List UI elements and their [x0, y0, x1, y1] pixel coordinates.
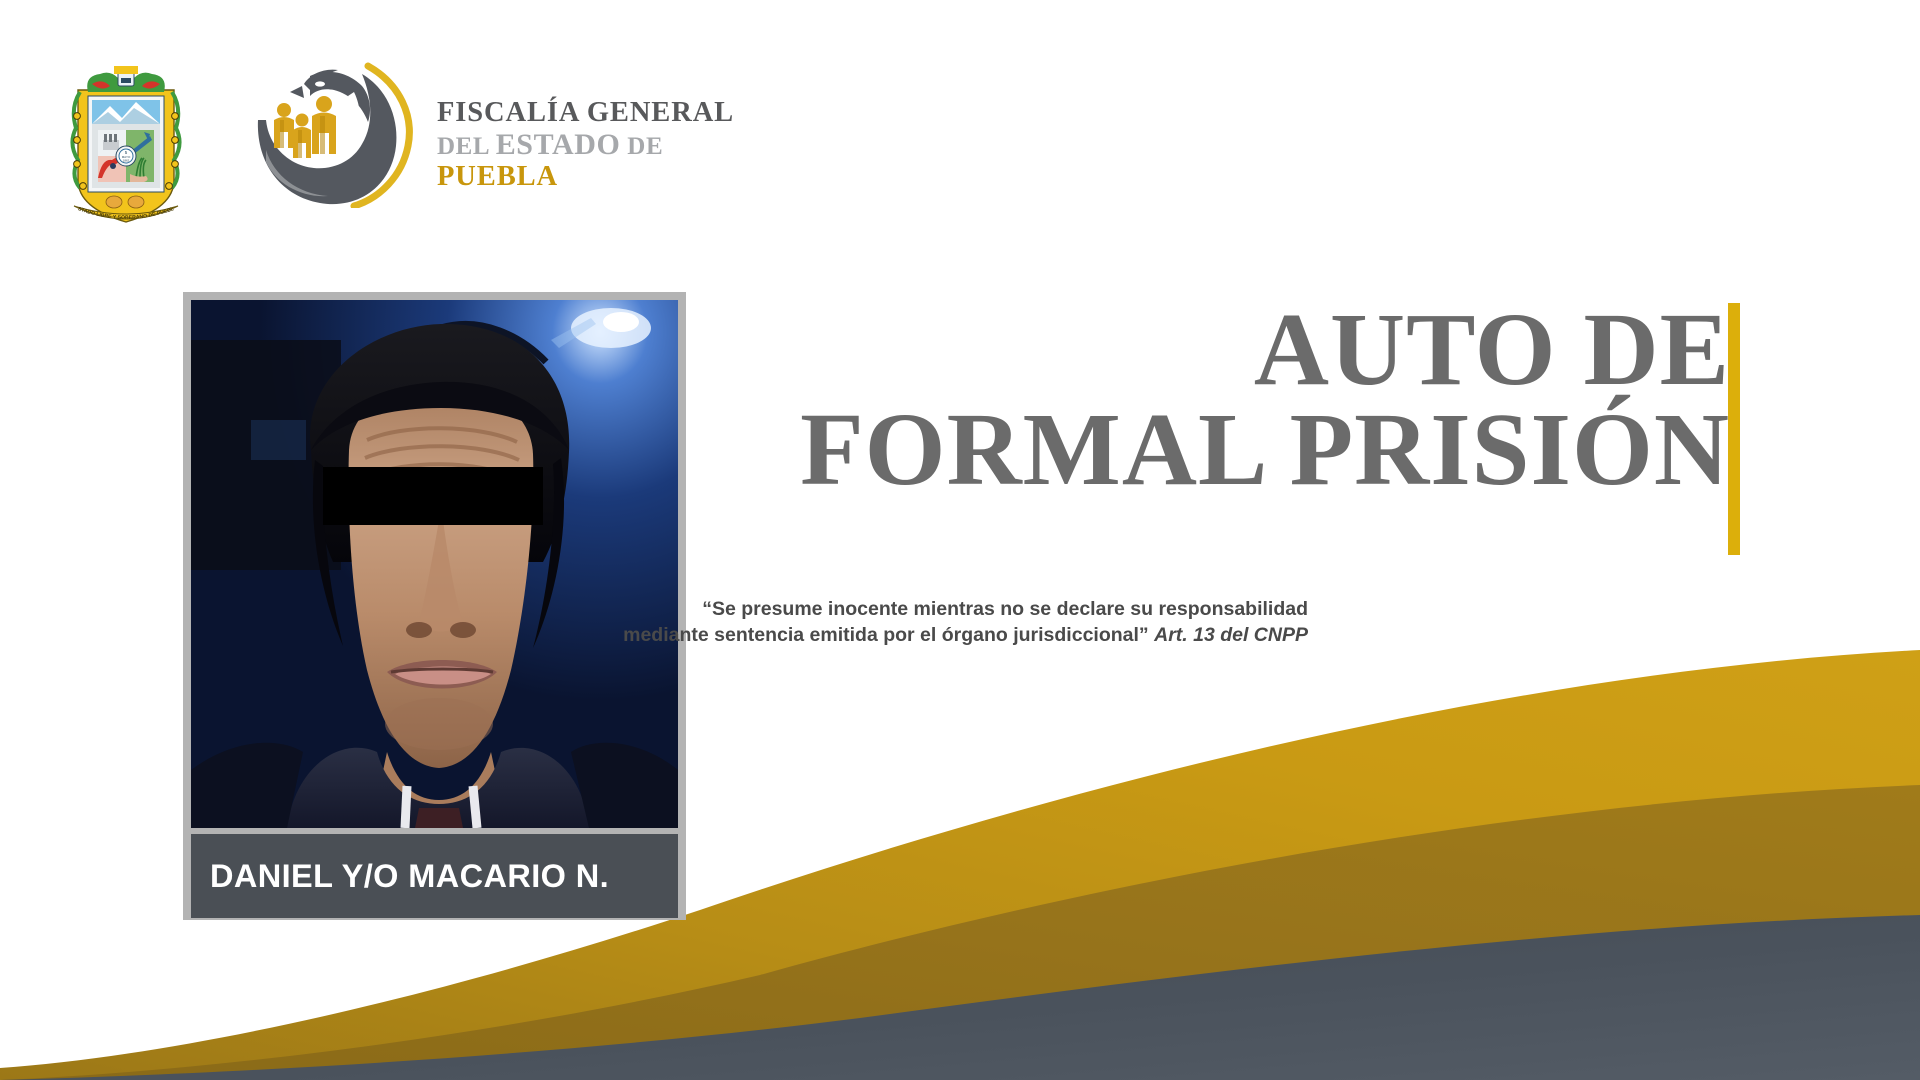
header: 5 MAYO 1862 ESTADO LIBRE Y SOBERANO DE P… — [0, 0, 1920, 230]
subject-name: DANIEL Y/O MACARIO N. — [210, 858, 609, 895]
presumption-of-innocence-quote: “Se presume inocente mientras no se decl… — [488, 597, 1308, 648]
logo-de: DE — [627, 133, 663, 160]
title-line-1: AUTO DE — [580, 300, 1730, 400]
logo-line-del-estado-de: DEL ESTADO DE — [437, 128, 787, 161]
title-line-2: FORMAL PRISIÓN — [580, 400, 1730, 500]
logo-line-fiscalia-general: FISCALÍA GENERAL — [437, 98, 787, 127]
quote-line-1: “Se presume inocente mientras no se decl… — [488, 597, 1308, 623]
title-accent-bar — [1728, 303, 1740, 555]
page-title: AUTO DE FORMAL PRISIÓN — [580, 300, 1730, 500]
puebla-coat-of-arms-icon: 5 MAYO 1862 ESTADO LIBRE Y SOBERANO DE P… — [66, 62, 186, 227]
fge-eagle-logo-icon — [250, 58, 420, 208]
svg-text:1862: 1862 — [123, 159, 130, 163]
quote-legal-article: Art. 13 del CNPP — [1154, 624, 1308, 646]
eye-censor-bar — [323, 467, 543, 525]
logo-line-puebla: PUEBLA — [437, 162, 787, 192]
logo-wordmark: FISCALÍA GENERAL DEL ESTADO DE PUEBLA — [437, 98, 787, 192]
subject-name-plate: DANIEL Y/O MACARIO N. — [191, 834, 678, 918]
logo-estado: ESTADO — [496, 128, 621, 161]
quote-line-2: mediante sentencia emitida por el órgano… — [488, 623, 1308, 649]
logo-del: DEL — [437, 133, 489, 160]
quote-line-2-text: mediante sentencia emitida por el órgano… — [623, 624, 1149, 646]
